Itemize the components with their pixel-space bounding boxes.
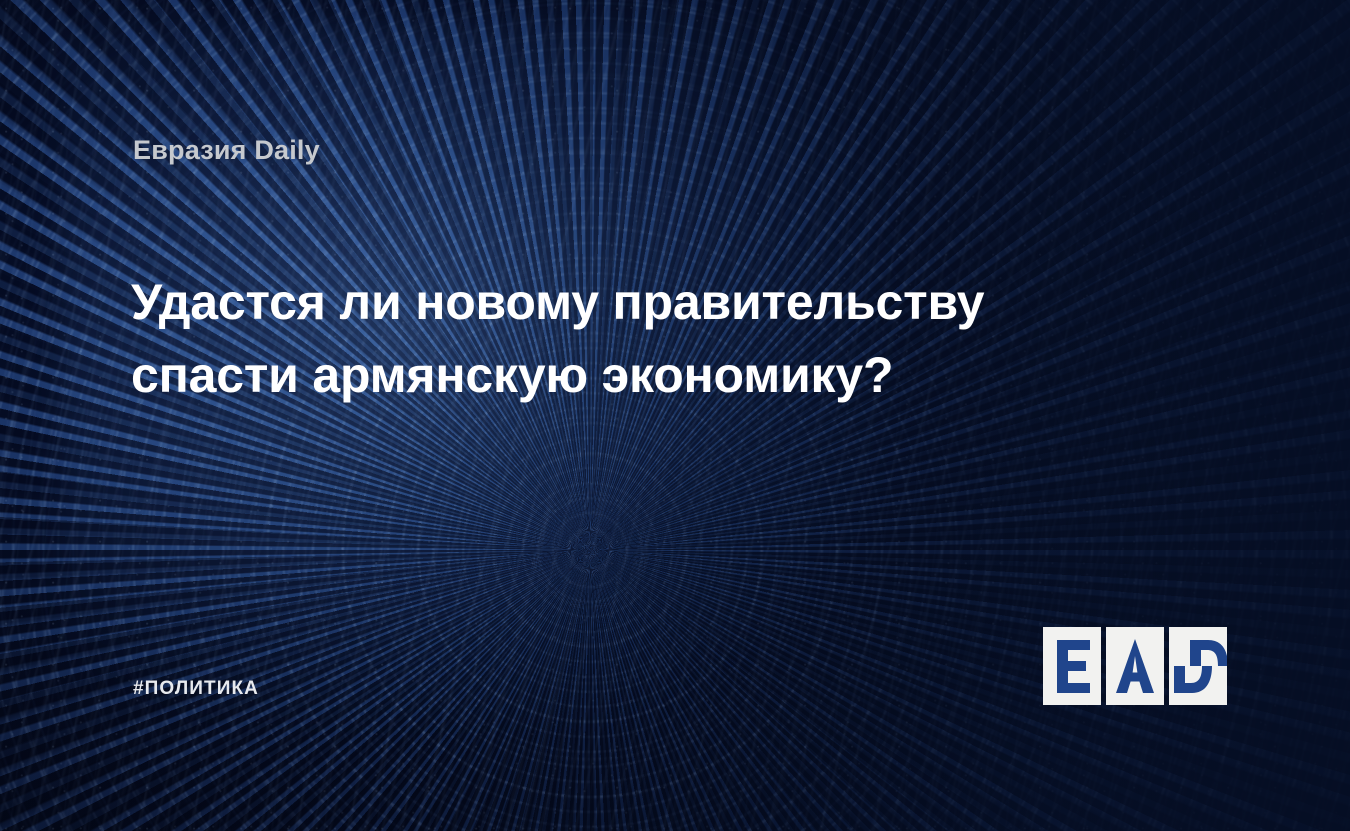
brand-wordmark: Евразия Daily [133,135,320,166]
logo-tile-d [1169,627,1227,705]
letter-a-icon [1106,627,1164,705]
logo-tile-a [1106,627,1164,705]
letter-d-top-half [1169,627,1227,666]
ead-logo [1043,627,1227,705]
letter-d-bottom-half [1169,666,1227,705]
social-share-card: Евразия Daily Удастся ли новому правител… [0,0,1350,831]
category-hashtag: #ПОЛИТИКА [133,678,259,700]
logo-tile-e [1043,627,1101,705]
letter-e-icon [1043,627,1101,705]
letter-d-icon-lower [1169,666,1220,705]
card-content: Евразия Daily Удастся ли новому правител… [0,0,1350,831]
letter-d-icon-upper [1178,627,1227,666]
headline-title: Удастся ли новому правительству спасти а… [131,266,1111,411]
